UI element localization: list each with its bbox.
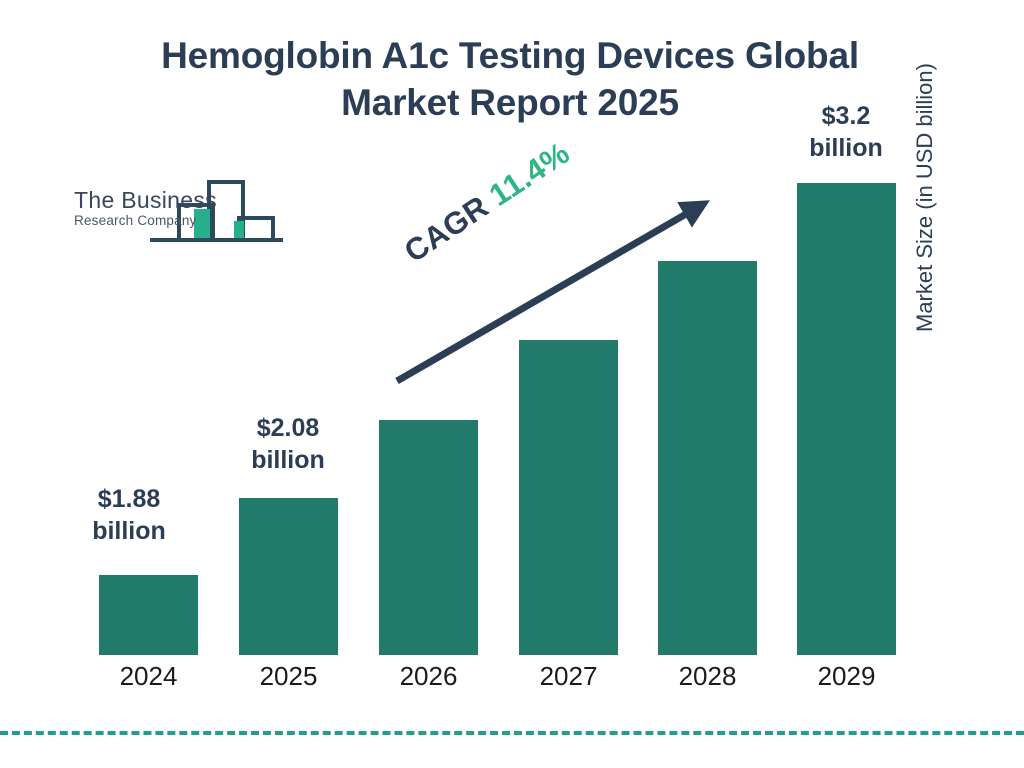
chart-canvas: Hemoglobin A1c Testing Devices Global Ma… [0, 0, 1024, 768]
y-axis-title: Market Size (in USD billion) [912, 2, 938, 332]
growth-arrow-icon [0, 0, 1024, 768]
footer-divider [0, 731, 1024, 735]
